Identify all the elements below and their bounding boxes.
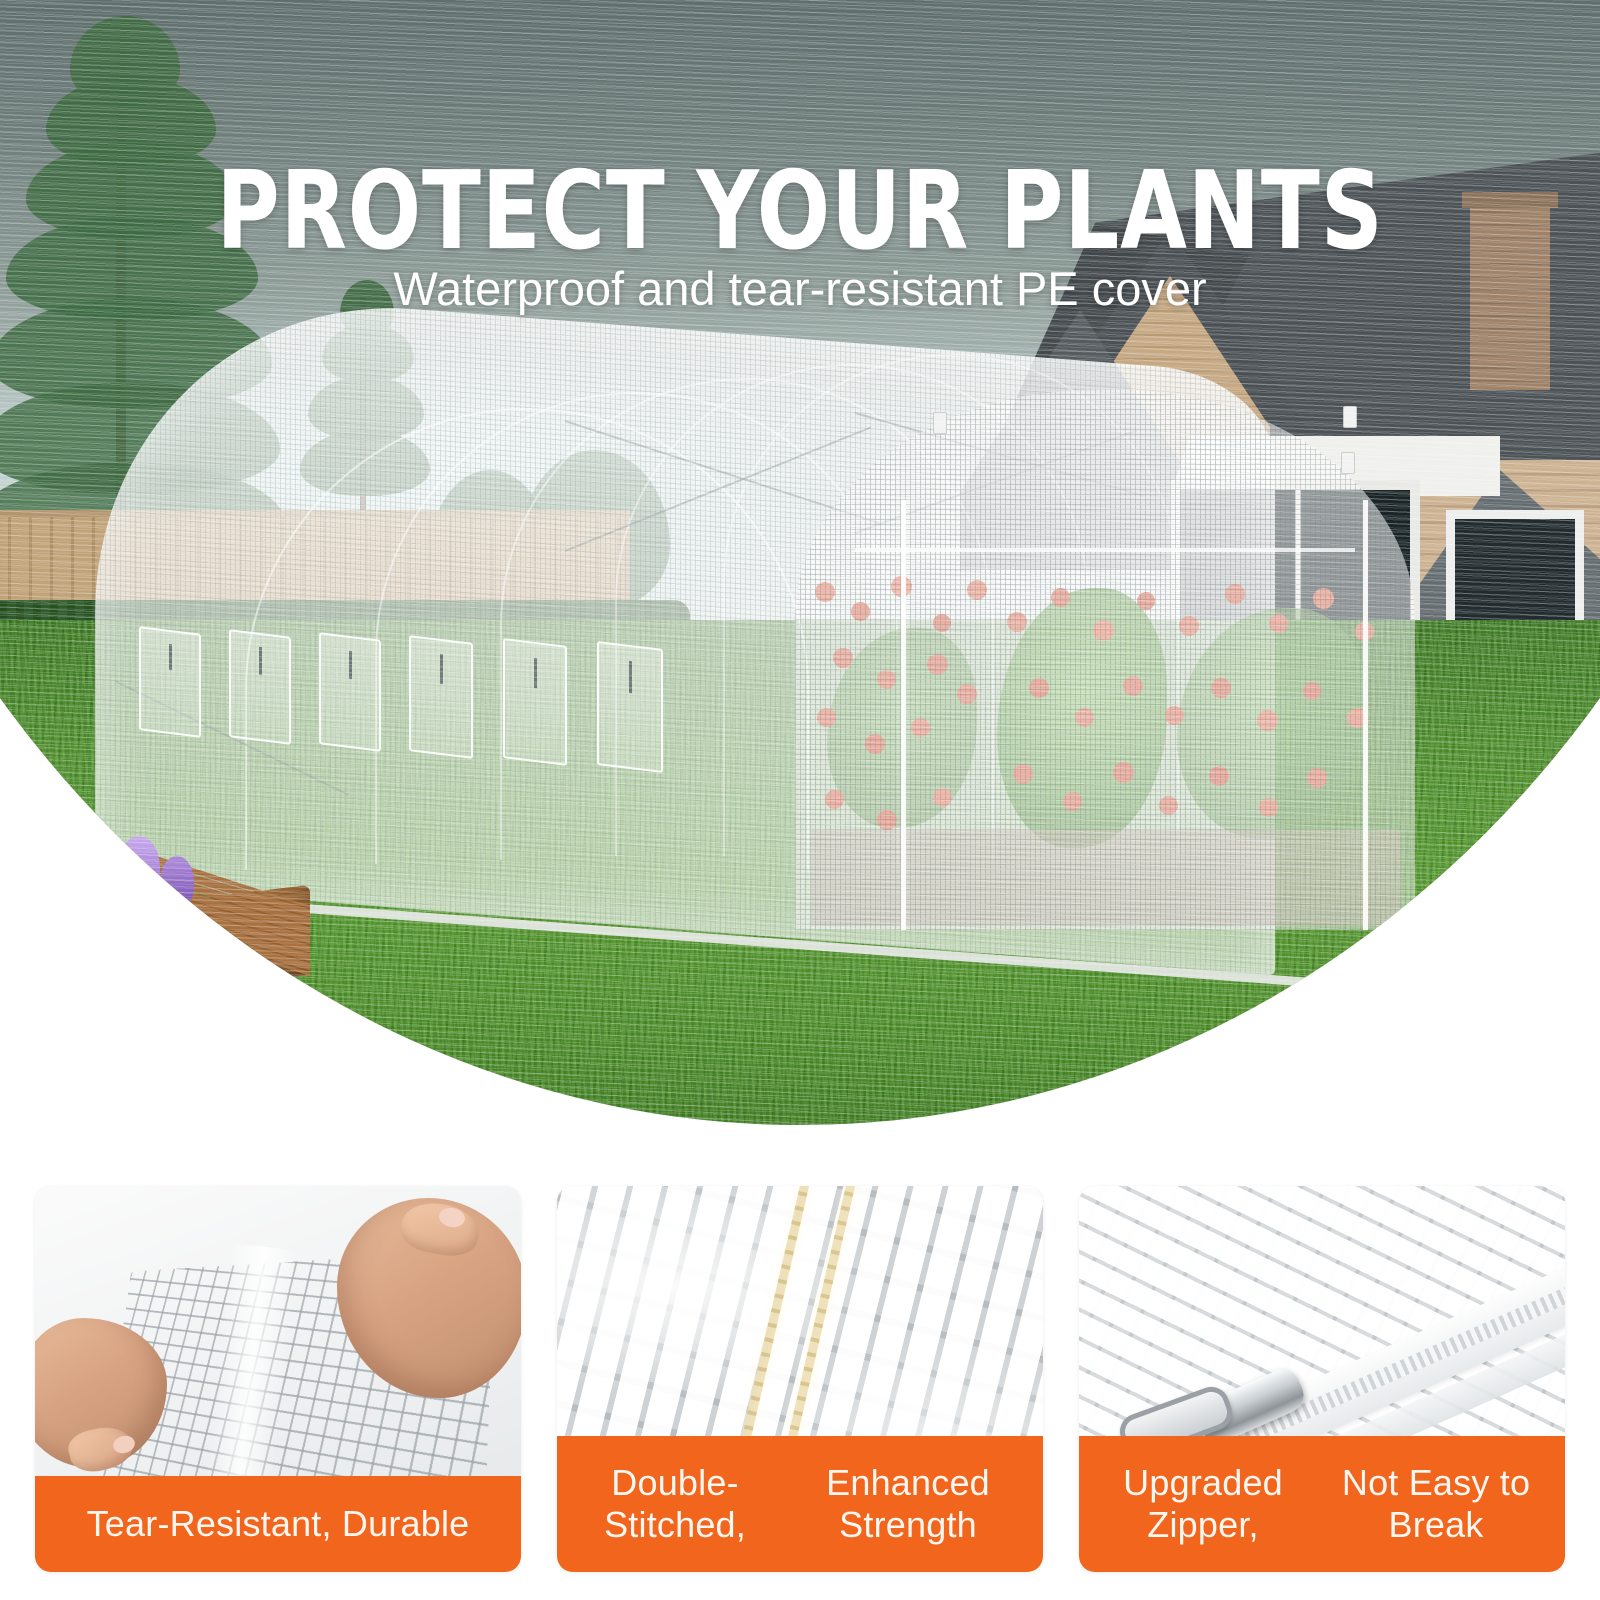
cover-clip (1341, 452, 1355, 474)
feature-caption: Tear-Resistant, Durable (35, 1476, 521, 1572)
cover-clip (933, 412, 947, 434)
right-thumb (397, 1198, 482, 1261)
greenhouse-door-frame[interactable] (901, 500, 906, 930)
page-subtitle: Waterproof and tear-resistant PE cover (0, 263, 1600, 315)
window-vent[interactable] (319, 632, 381, 752)
hero-scene: PROTECT YOUR PLANTS Waterproof and tear-… (0, 0, 1600, 1160)
hero-image: PROTECT YOUR PLANTS Waterproof and tear-… (0, 0, 1600, 1160)
window-vent[interactable] (597, 641, 663, 773)
caption-line-2: Enhanced Strength (783, 1462, 1033, 1546)
cover-clip (1343, 406, 1357, 428)
page-title: PROTECT YOUR PLANTS (160, 158, 1440, 266)
lavender-flowers (0, 830, 230, 940)
feature-caption: Double-Stitched, Enhanced Strength (557, 1436, 1043, 1572)
greenhouse-door-frame[interactable] (1363, 500, 1368, 930)
window-vent[interactable] (139, 626, 201, 738)
caption-line-1: Upgraded Zipper, (1089, 1462, 1317, 1546)
feature-card-tear-resistant[interactable]: Tear-Resistant, Durable (35, 1186, 521, 1572)
window-vent[interactable] (229, 629, 291, 745)
window-vent[interactable] (409, 635, 473, 759)
greenhouse-front-mesh (795, 390, 1415, 930)
caption-line-2: Not Easy to Break (1317, 1462, 1555, 1546)
feature-card-row: Tear-Resistant, Durable Double-Stitched,… (0, 1186, 1600, 1586)
greenhouse-front-rail (855, 548, 1355, 552)
feature-card-double-stitched[interactable]: Double-Stitched, Enhanced Strength (557, 1186, 1043, 1572)
chimney-cap (1462, 192, 1558, 208)
feature-card-upgraded-zipper[interactable]: Upgraded Zipper, Not Easy to Break (1079, 1186, 1565, 1572)
tunnel-greenhouse (95, 300, 1425, 940)
product-feature-page: PROTECT YOUR PLANTS Waterproof and tear-… (0, 0, 1600, 1600)
window-vent[interactable] (503, 638, 567, 766)
feature-caption: Upgraded Zipper, Not Easy to Break (1079, 1436, 1565, 1572)
caption-line-1: Double-Stitched, (567, 1462, 783, 1546)
